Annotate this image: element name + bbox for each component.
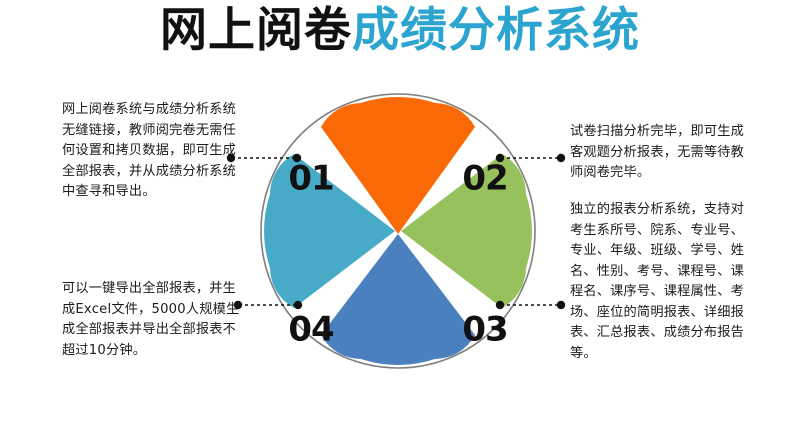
segment-label-02: 02	[462, 159, 507, 199]
page-title: 网上阅卷成绩分析系统	[0, 2, 800, 64]
callout-text-03: 独立的报表分析系统，支持对考生系所号、院系、专业号、专业、年级、班级、学号、姓名…	[570, 200, 755, 364]
callout-text-01: 网上阅卷系统与成绩分析系统无缝链接，教师阅完卷无需任何设置和拷贝数据，即可生成全…	[62, 100, 240, 203]
segment-label-04: 04	[288, 310, 334, 350]
callout-text-02: 试卷扫描分析完毕，即可生成客观题分析报表，无需等待教师阅卷完毕。	[570, 122, 750, 184]
four-segment-circle-diagram: 01 02 03 04	[248, 81, 548, 381]
page-title-accent: 成绩分析系统	[352, 3, 640, 58]
page-title-primary: 网上阅卷	[160, 3, 352, 58]
callout-text-04: 可以一键导出全部报表，并生成Excel文件，5000人规模生成全部报表并导出全部…	[62, 279, 246, 361]
segment-label-03: 03	[462, 310, 507, 350]
segment-label-01: 01	[288, 159, 333, 199]
